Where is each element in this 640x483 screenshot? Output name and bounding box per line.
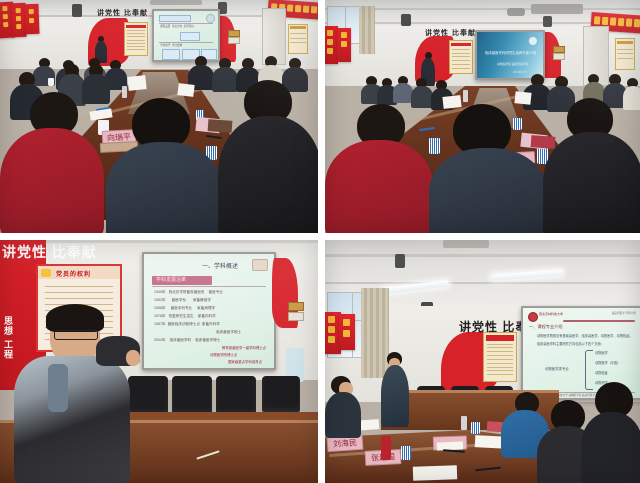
projection-screen: 课程设置 专业方向 培养目标 学位授予 学分要求: [152, 9, 220, 62]
projection-screen: 临床兽医学科研究生培养方案介绍 动物医学院 临床兽医学系 2019年12月: [475, 30, 545, 80]
photo-collage: 讲党性 比奉献 课程设置 专业: [0, 0, 640, 483]
slide-title: 临床兽医学科研究生培养方案介绍: [485, 51, 536, 56]
presenter: [381, 352, 409, 430]
wall-slogan: 讲党性 比奉献: [97, 8, 148, 18]
wall-notice-board: [615, 38, 635, 70]
chair: [262, 376, 300, 412]
wall-banner-left-2: [339, 314, 355, 350]
wall-poster: [124, 22, 148, 56]
slide-brace-item: 动物检疫: [595, 371, 608, 375]
photo-bottom-right: 讲党性 比奉献 西北农林科技大学 临床兽医学 学科介绍 一、课程专业介: [325, 240, 640, 483]
glasses-icon: [54, 330, 98, 340]
wall-plaque: [228, 30, 240, 37]
ceiling-speaker-icon: [72, 4, 82, 17]
ceiling-speaker-icon: [543, 16, 552, 27]
slide-title: 一、学科概述: [202, 263, 238, 271]
slide-header-right: 临床兽医学 学科介绍: [612, 312, 636, 316]
foreground-person-navy: [429, 104, 547, 233]
foreground-person-black: [543, 98, 640, 233]
slide-brace-label: 动物医学类专业: [545, 367, 569, 372]
chair: [216, 376, 256, 414]
wall-plaque: [553, 53, 565, 60]
thermos: [381, 436, 391, 460]
slide-brace-item: 动物医学: [595, 351, 608, 355]
wall-banner-left-3: [24, 4, 39, 34]
wall-plaque: [288, 312, 304, 321]
wall-slogan: 讲党性 比奉献: [2, 242, 97, 262]
slide-section-label: 学科发展沿革: [156, 277, 186, 284]
foreground-attendee: [581, 382, 640, 483]
foreground-person-red: [325, 104, 433, 233]
wall-slogan: 讲党性 比奉献: [425, 28, 476, 38]
foreground-person-red: [0, 92, 104, 233]
photo-bottom-left: 讲党性 比奉献 思想 工程 党员的权利 一、学科概述: [0, 240, 318, 483]
photo-top-right: 讲党性 比奉献 临床兽医学科研究生培养方案介绍 动物医学院 临床兽医学系: [325, 0, 640, 233]
chair: [128, 376, 168, 414]
wall-poster: [449, 40, 473, 74]
slide-brace-item: 动物医学（中医）: [595, 361, 621, 365]
foreground-person-navy: [106, 98, 222, 233]
wall-poster-title: 党员的权利: [56, 269, 91, 278]
ceiling-projector: [507, 8, 525, 16]
slide-line-2: 临床兽医学科主要研究方向包括以下四个方面：: [537, 342, 604, 346]
slide-header: 西北农林科技大学: [539, 312, 563, 316]
wall-plaque: [553, 46, 565, 53]
wall-banner-left-2: [337, 28, 351, 62]
slide-content: 课程设置 专业方向 培养目标 学位授予 学分要求: [154, 11, 218, 60]
ceiling-speaker-icon: [401, 14, 411, 26]
wall-poster: [483, 332, 517, 382]
projection-screen: 一、学科概述 学科发展沿革 1949年 西北农学院畜牧兽医系 兽医专业 1952…: [142, 252, 276, 370]
presenter: [14, 304, 130, 483]
chair: [172, 376, 212, 414]
wall-plaque: [288, 302, 304, 311]
attendee: [325, 376, 361, 436]
wall-notice-board: [288, 24, 308, 54]
slide-title: 一、课程专业介绍: [529, 324, 563, 330]
wall-plaque: [228, 37, 240, 44]
slide-subtitle: 动物医学院 临床兽医学系: [497, 63, 529, 67]
slide-content: 临床兽医学科研究生培养方案介绍 动物医学院 临床兽医学系 2019年12月: [477, 32, 543, 78]
foreground-person-black: [218, 80, 318, 233]
ceiling-speaker-icon: [395, 254, 405, 268]
slide-line-1: 动物医学院现设有基础兽医学、临床兽医学、动物医学、动物检疫。: [537, 334, 633, 338]
slide-content: 一、学科概述 学科发展沿革 1949年 西北农学院畜牧兽医系 兽医专业 1952…: [144, 254, 274, 368]
curtain: [359, 6, 375, 54]
presenter-arm: [96, 336, 140, 376]
photo-top-left: 讲党性 比奉献 课程设置 专业: [0, 0, 318, 233]
